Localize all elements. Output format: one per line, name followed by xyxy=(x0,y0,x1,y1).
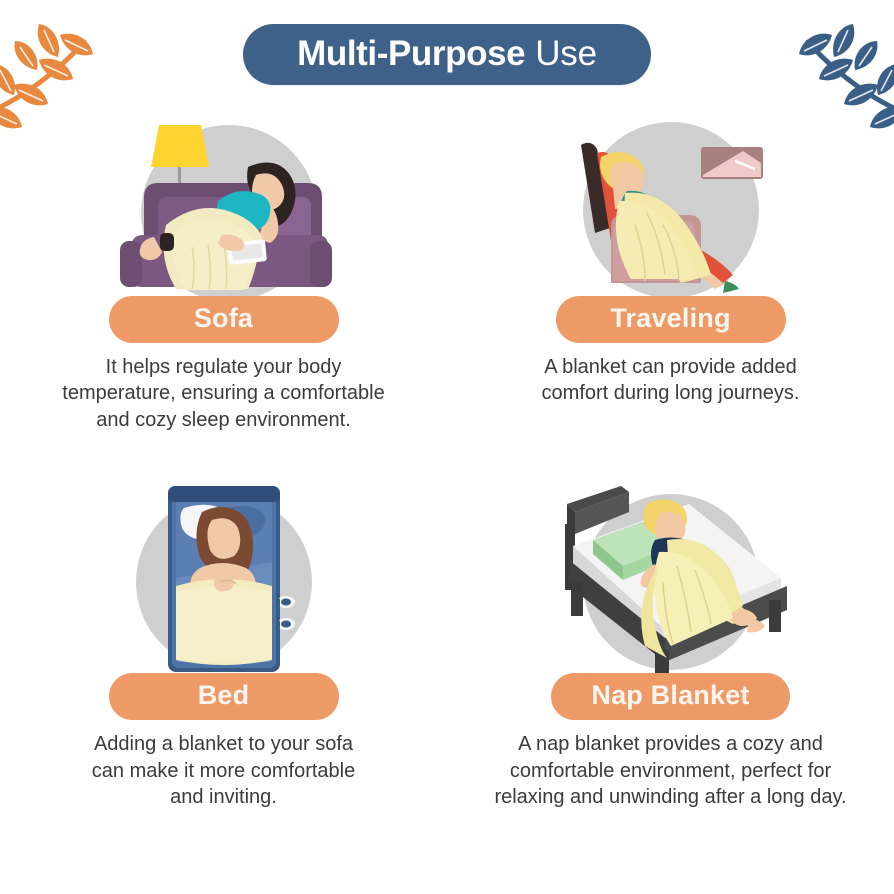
feature-grid: Sofa It helps regulate your body tempera… xyxy=(0,110,894,810)
card-description-traveling: A blanket can provide added comfort duri… xyxy=(542,354,800,407)
card-label-bed: Bed xyxy=(109,673,339,720)
card-label-sofa: Sofa xyxy=(109,296,339,343)
bed-illustration xyxy=(96,487,351,677)
card-description-nap-blanket: A nap blanket provides a cozy and comfor… xyxy=(494,731,846,810)
traveling-illustration xyxy=(543,110,798,300)
feature-card-bed: Bed Adding a blanket to your sofa can ma… xyxy=(0,487,447,810)
title-light-text: Use xyxy=(535,36,597,71)
card-label-traveling: Traveling xyxy=(556,296,786,343)
card-description-bed: Adding a blanket to your sofa can make i… xyxy=(92,731,355,810)
card-label-nap-blanket: Nap Blanket xyxy=(551,673,789,720)
card-description-sofa: It helps regulate your body temperature,… xyxy=(62,354,384,433)
feature-card-sofa: Sofa It helps regulate your body tempera… xyxy=(0,110,447,433)
feature-card-traveling: Traveling A blanket can provide added co… xyxy=(447,110,894,433)
title-pill: Multi-Purpose Use xyxy=(243,24,651,85)
sofa-illustration xyxy=(96,110,351,300)
infographic-page: Multi-Purpose Use xyxy=(0,0,894,894)
page-title: Multi-Purpose Use xyxy=(0,24,894,85)
title-strong-text: Multi-Purpose xyxy=(297,36,525,71)
feature-card-nap-blanket: Nap Blanket A nap blanket provides a coz… xyxy=(447,487,894,810)
nap-blanket-illustration xyxy=(543,487,798,677)
